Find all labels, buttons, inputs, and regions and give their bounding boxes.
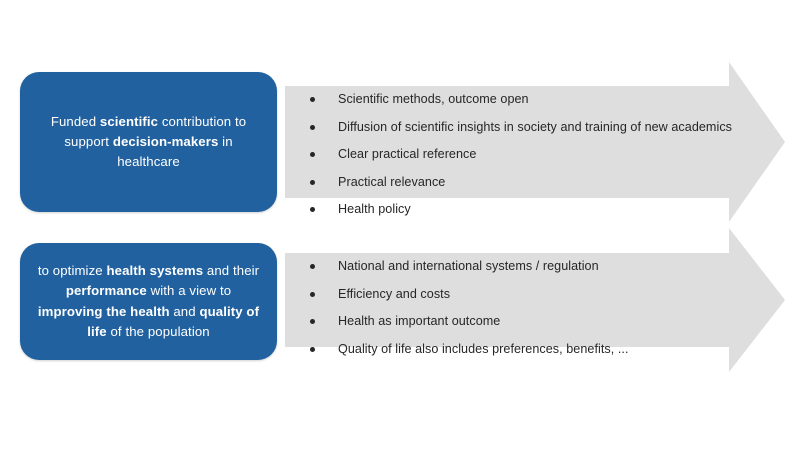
bullet-dot-icon xyxy=(310,97,315,102)
bullet-dot-icon xyxy=(310,292,315,297)
label-seg-plain: of the population xyxy=(107,324,210,339)
list-item: Clear practical reference xyxy=(310,146,732,163)
label-seg-plain: and xyxy=(170,304,200,319)
list-item-label: Scientific methods, outcome open xyxy=(338,92,529,106)
label-seg-bold: performance xyxy=(66,283,147,298)
label-seg-bold: decision-makers xyxy=(113,134,219,149)
bullet-dot-icon xyxy=(310,264,315,269)
label-seg-plain: Funded xyxy=(51,114,100,129)
bullet-dot-icon xyxy=(310,347,315,352)
list-item: Diffusion of scientific insights in soci… xyxy=(310,119,732,136)
list-item-label: National and international systems / reg… xyxy=(338,259,599,273)
list-item: Health as important outcome xyxy=(310,313,629,330)
bullet-list-2: National and international systems / reg… xyxy=(310,258,629,358)
label-seg-bold: health systems xyxy=(106,263,203,278)
list-item: National and international systems / reg… xyxy=(310,258,629,275)
list-item-label: Efficiency and costs xyxy=(338,287,450,301)
label-seg-plain: to optimize xyxy=(38,263,107,278)
label-seg-plain: with a view to xyxy=(147,283,231,298)
list-item: Quality of life also includes preference… xyxy=(310,341,629,358)
list-item-label: Clear practical reference xyxy=(338,147,476,161)
bullet-dot-icon xyxy=(310,319,315,324)
label-seg-bold: improving the health xyxy=(38,304,170,319)
label-text-1: Funded scientific contribution to suppor… xyxy=(36,112,261,172)
list-item-label: Health as important outcome xyxy=(338,314,500,328)
label-seg-bold: scientific xyxy=(100,114,158,129)
diagram-canvas: Funded scientific contribution to suppor… xyxy=(0,0,800,450)
label-box-2: to optimize health systems and their per… xyxy=(20,243,277,360)
process-row-2: to optimize health systems and their per… xyxy=(0,166,800,396)
list-item: Efficiency and costs xyxy=(310,286,629,303)
bullet-dot-icon xyxy=(310,125,315,130)
list-item-label: Quality of life also includes preference… xyxy=(338,342,629,356)
label-seg-plain: and their xyxy=(203,263,259,278)
list-item: Scientific methods, outcome open xyxy=(310,91,732,108)
list-item-label: Diffusion of scientific insights in soci… xyxy=(338,120,732,134)
bullet-dot-icon xyxy=(310,152,315,157)
label-text-2: to optimize health systems and their per… xyxy=(36,261,261,341)
